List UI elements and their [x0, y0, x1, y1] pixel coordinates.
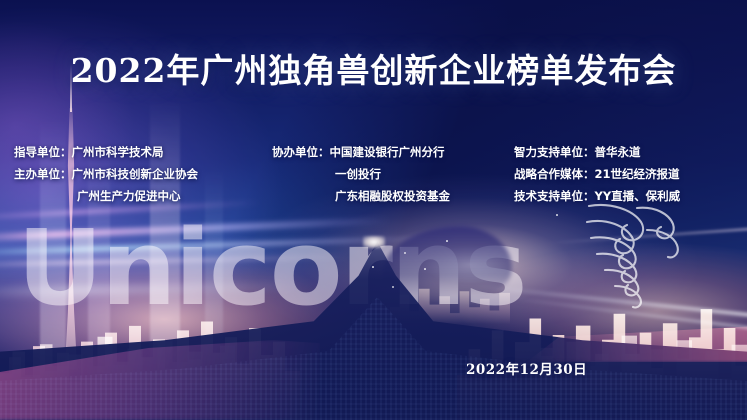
credit-line: 广州生产力促进中心 — [14, 185, 272, 207]
credit-value: 21世纪经济报道 — [595, 163, 680, 185]
credit-line: 一创投行 — [272, 163, 514, 185]
credit-value: 普华永道 — [595, 141, 641, 163]
credit-line: 智力支持单位： 普华永道 — [514, 141, 680, 163]
credit-value: 广州市科技创新企业协会 — [72, 163, 199, 185]
credit-label: 技术支持单位： — [514, 185, 595, 207]
credit-line: 指导单位： 广州市科学技术局 — [14, 141, 272, 163]
credit-line: 主办单位： 广州市科技创新企业协会 — [14, 163, 272, 185]
poster-content: 2022年广州独角兽创新企业榜单发布会 指导单位： 广州市科学技术局 主办单位：… — [0, 0, 747, 420]
credit-line: 技术支持单位： YY直播、保利威 — [514, 185, 680, 207]
event-date: 2022年12月30日 — [466, 358, 587, 378]
page-title: 2022年广州独角兽创新企业榜单发布会 — [0, 44, 747, 92]
credits-column-3: 智力支持单位： 普华永道 战略合作媒体： 21世纪经济报道 技术支持单位： YY… — [514, 141, 680, 207]
credit-label: 智力支持单位： — [514, 141, 595, 163]
credit-line: 广东相融股权投资基金 — [272, 185, 514, 207]
credit-value: 广州生产力促进中心 — [77, 185, 181, 207]
credit-label: 协办单位： — [272, 141, 330, 163]
poster-canvas: Unicorns — [0, 0, 747, 420]
credit-value: 中国建设银行广州分行 — [330, 141, 445, 163]
credits-column-1: 指导单位： 广州市科学技术局 主办单位： 广州市科技创新企业协会 广州生产力促进… — [14, 141, 272, 207]
credit-label: 指导单位： — [14, 141, 72, 163]
credits-column-2: 协办单位： 中国建设银行广州分行 一创投行 广东相融股权投资基金 — [272, 141, 514, 207]
credits-block: 指导单位： 广州市科学技术局 主办单位： 广州市科技创新企业协会 广州生产力促进… — [0, 141, 747, 207]
credit-line: 战略合作媒体： 21世纪经济报道 — [514, 163, 680, 185]
credit-value: 广州市科学技术局 — [72, 141, 164, 163]
credit-line: 协办单位： 中国建设银行广州分行 — [272, 141, 514, 163]
credit-value: 广东相融股权投资基金 — [335, 185, 450, 207]
credit-value: YY直播、保利威 — [595, 185, 681, 207]
credit-label: 战略合作媒体： — [514, 163, 595, 185]
credit-label: 主办单位： — [14, 163, 72, 185]
credit-value: 一创投行 — [335, 163, 381, 185]
